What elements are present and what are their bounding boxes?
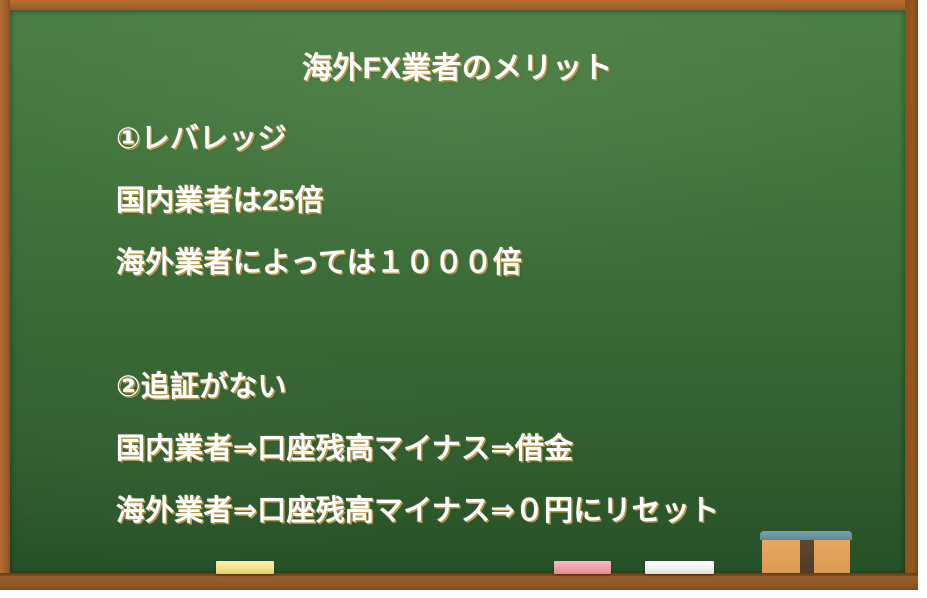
chalk-ledge [0,573,918,590]
board-line-4: ②追証がない [116,356,876,418]
board-text-body: ①レバレッジ 国内業者は25倍 海外業者によっては１０００倍 ②追証がない 国内… [116,108,876,542]
eraser-center-band [800,538,814,573]
chalkboard-slide: 海外FX業者のメリット ①レバレッジ 国内業者は25倍 海外業者によっては１００… [0,0,927,598]
chalkboard-surface: 海外FX業者のメリット ①レバレッジ 国内業者は25倍 海外業者によっては１００… [10,10,905,573]
frame-left-edge [0,0,10,590]
board-line-1: ①レバレッジ [116,108,876,170]
board-line-2: 国内業者は25倍 [116,170,876,232]
eraser-body-left [762,538,800,573]
chalk-white-icon[interactable] [645,561,714,574]
chalkboard-frame: 海外FX業者のメリット ①レバレッジ 国内業者は25倍 海外業者によっては１００… [0,0,918,590]
board-line-3: 海外業者によっては１０００倍 [116,232,876,294]
board-title: 海外FX業者のメリット [10,50,905,88]
frame-right-edge [905,0,918,590]
chalk-yellow-icon[interactable] [216,561,274,574]
eraser-body-right [814,538,850,573]
board-line-5: 国内業者⇒口座残高マイナス⇒借金 [116,418,876,480]
chalk-pink-icon[interactable] [554,561,611,574]
eraser-felt-top [760,531,852,540]
frame-top-edge [0,0,918,10]
eraser-icon[interactable] [760,531,852,573]
board-line-blank [116,294,876,356]
chalk-ledge-lip [0,573,918,576]
